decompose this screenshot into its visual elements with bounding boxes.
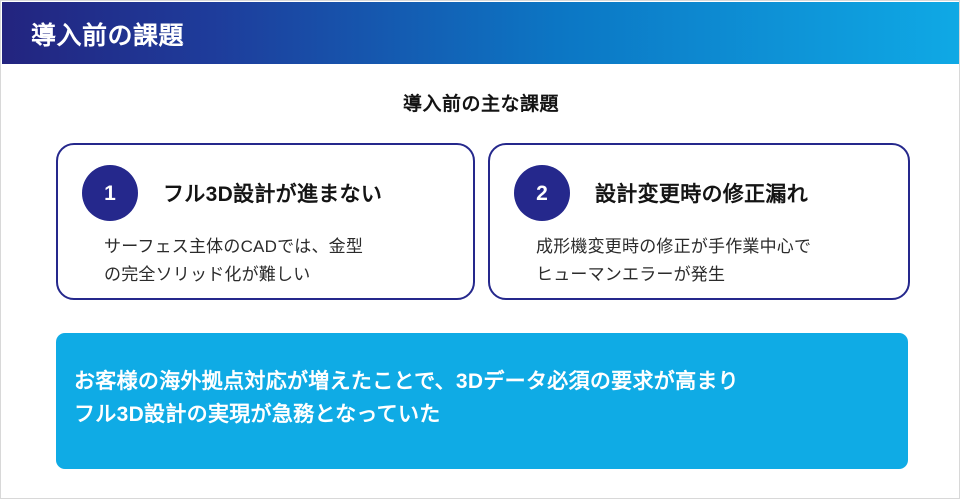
issue-card-1: 1 フル3D設計が進まない サーフェス主体のCADでは、金型 の完全ソリッド化が… — [56, 143, 475, 300]
issue-number-badge: 1 — [82, 165, 138, 221]
issue-card-2-body-line-2: ヒューマンエラーが発生 — [536, 261, 890, 289]
issue-card-1-body-line-2: の完全ソリッド化が難しい — [104, 261, 455, 289]
section-subtitle: 導入前の主な課題 — [1, 89, 960, 116]
summary-banner-text: お客様の海外拠点対応が増えたことで、3Dデータ必須の要求が高まり フル3D設計の… — [74, 365, 892, 431]
slide-canvas: 導入前の課題 導入前の主な課題 1 フル3D設計が進まない サーフェス主体のCA… — [0, 0, 960, 499]
issue-card-1-body: サーフェス主体のCADでは、金型 の完全ソリッド化が難しい — [104, 233, 455, 289]
issue-number-badge: 2 — [514, 165, 570, 221]
issue-card-2-body-line-1: 成形機変更時の修正が手作業中心で — [536, 233, 890, 261]
summary-banner: お客様の海外拠点対応が増えたことで、3Dデータ必須の要求が高まり フル3D設計の… — [56, 333, 908, 469]
issue-card-2: 2 設計変更時の修正漏れ 成形機変更時の修正が手作業中心で ヒューマンエラーが発… — [488, 143, 910, 300]
issue-card-1-body-line-1: サーフェス主体のCADでは、金型 — [104, 233, 455, 261]
issue-card-1-title: フル3D設計が進まない — [163, 178, 382, 208]
slide-header-bar: 導入前の課題 — [2, 2, 960, 64]
page-title: 導入前の課題 — [31, 16, 184, 52]
summary-line-2: フル3D設計の実現が急務となっていた — [74, 398, 892, 431]
issue-card-2-header: 2 設計変更時の修正漏れ — [514, 165, 894, 221]
issue-card-1-header: 1 フル3D設計が進まない — [82, 165, 459, 221]
summary-line-1: お客様の海外拠点対応が増えたことで、3Dデータ必須の要求が高まり — [74, 365, 892, 398]
issue-card-2-title: 設計変更時の修正漏れ — [595, 178, 808, 208]
issue-card-2-body: 成形機変更時の修正が手作業中心で ヒューマンエラーが発生 — [536, 233, 890, 289]
